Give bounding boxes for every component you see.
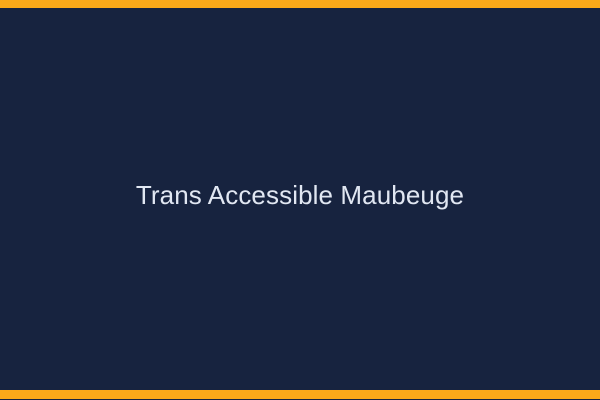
placeholder-banner: Trans Accessible Maubeuge	[0, 0, 600, 400]
banner-title: Trans Accessible Maubeuge	[120, 180, 480, 211]
banner-content-area: Trans Accessible Maubeuge	[0, 8, 600, 390]
top-accent-bar	[0, 0, 600, 8]
bottom-accent-bar	[0, 390, 600, 399]
